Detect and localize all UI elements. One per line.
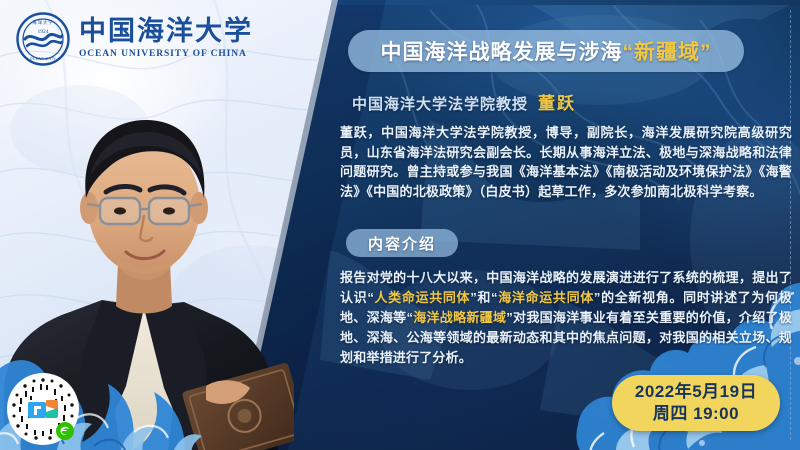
speaker-affiliation: 中国海洋大学法学院教授 [352, 96, 528, 113]
svg-text:海洋大学: 海洋大学 [32, 19, 54, 26]
date-line: 2022年5月19日 [635, 381, 757, 403]
title-highlight: “新疆域” [623, 41, 712, 64]
time-line: 周四 19:00 [653, 403, 739, 425]
section-pill-content-intro: 内容介绍 [346, 229, 458, 257]
svg-text:1924: 1924 [38, 29, 49, 35]
logo-english-name: OCEAN UNIVERSITY OF CHINA [79, 50, 253, 60]
date-badge: 2022年5月19日 周四 19:00 [612, 375, 780, 431]
title-pill: 中国海洋战略发展与涉海“新疆域” [348, 30, 744, 72]
university-logo: 1924 海洋大学 OCEAN UNIV 中国海洋大学 OCEAN UNIVER… [16, 12, 253, 66]
lecture-poster: 1924 海洋大学 OCEAN UNIV 中国海洋大学 OCEAN UNIVER… [0, 0, 800, 450]
dashed-border-rule [790, 10, 791, 440]
content-highlight-1: 人类命运共同体 [374, 290, 470, 305]
content-highlight-2: 海洋命运共同体 [498, 290, 594, 305]
logo-chinese-name: 中国海洋大学 [79, 18, 253, 45]
speaker-line: 中国海洋大学法学院教授董跃 [352, 89, 782, 114]
title-prefix: 中国海洋战略发展与涉海 [381, 41, 623, 64]
speaker-bio: 董跃，中国海洋大学法学院教授，博导，副院长，海洋发展研究院高级研究员，山东省海洋… [340, 123, 792, 201]
speaker-name: 董跃 [538, 94, 576, 113]
content-seg-2: ”和“ [470, 290, 498, 305]
section-label: 内容介绍 [368, 233, 436, 254]
content-description: 报告对党的十八大以来，中国海洋战略的发展演进进行了系统的梳理，提出了认识“人类命… [340, 268, 792, 368]
wechat-miniprogram-qr-icon[interactable] [6, 372, 80, 446]
ouc-seal-icon: 1924 海洋大学 OCEAN UNIV [16, 12, 70, 66]
content-highlight-3: 海洋战略新疆域 [413, 310, 506, 325]
svg-text:OCEAN UNIV: OCEAN UNIV [30, 57, 56, 61]
poster-title: 中国海洋战略发展与涉海“新疆域” [381, 36, 712, 66]
